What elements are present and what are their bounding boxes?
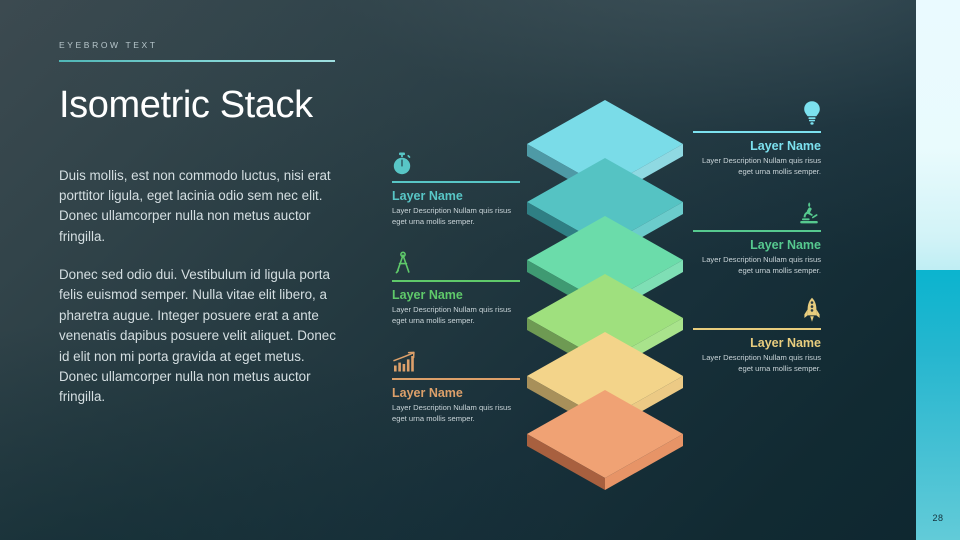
layer-name: Layer Name: [693, 139, 821, 153]
right-label-card-3[interactable]: Layer Name Layer Description Nullam quis…: [693, 297, 821, 374]
stopwatch-icon: [392, 150, 520, 176]
left-text-column: EYEBROW TEXT Isometric Stack Duis mollis…: [59, 40, 335, 408]
layer-description: Layer Description Nullam quis risus eget…: [693, 255, 821, 277]
layer-description: Layer Description Nullam quis risus eget…: [693, 156, 821, 178]
left-label-card-2[interactable]: Layer Name Layer Description Nullam quis…: [392, 249, 520, 326]
layer-name: Layer Name: [693, 238, 821, 252]
label-divider: [392, 280, 520, 282]
isometric-stack-graphic: [525, 98, 685, 443]
page-number: 28: [916, 513, 960, 523]
layer-name: Layer Name: [693, 336, 821, 350]
label-divider: [392, 181, 520, 183]
right-accent-strip: 28: [916, 0, 960, 540]
stack-layer-6[interactable]: [525, 388, 685, 492]
label-divider: [392, 378, 520, 380]
label-divider: [693, 328, 821, 330]
page-title: Isometric Stack: [59, 85, 335, 126]
accent-strip-top: [916, 0, 960, 270]
left-label-card-3[interactable]: Layer Name Layer Description Nullam quis…: [392, 347, 520, 424]
slide-canvas: EYEBROW TEXT Isometric Stack Duis mollis…: [0, 0, 960, 540]
layer-description: Layer Description Nullam quis risus eget…: [392, 206, 520, 228]
microscope-icon: [693, 199, 821, 225]
compass-divider-icon: [392, 249, 520, 275]
lightbulb-icon: [693, 100, 821, 126]
body-paragraph-2: Donec sed odio dui. Vestibulum id ligula…: [59, 265, 337, 408]
layer-name: Layer Name: [392, 386, 520, 400]
eyebrow-divider: [59, 60, 335, 62]
body-paragraph-1: Duis mollis, est non commodo luctus, nis…: [59, 166, 337, 248]
layer-name: Layer Name: [392, 288, 520, 302]
eyebrow-text: EYEBROW TEXT: [59, 40, 335, 60]
bar-chart-growth-icon: [392, 347, 520, 373]
right-label-card-2[interactable]: Layer Name Layer Description Nullam quis…: [693, 199, 821, 276]
body-copy: Duis mollis, est non commodo luctus, nis…: [59, 166, 337, 408]
left-label-card-1[interactable]: Layer Name Layer Description Nullam quis…: [392, 150, 520, 227]
rocket-icon: [693, 297, 821, 323]
layer-description: Layer Description Nullam quis risus eget…: [693, 353, 821, 375]
layer-name: Layer Name: [392, 189, 520, 203]
label-divider: [693, 131, 821, 133]
right-label-card-1[interactable]: Layer Name Layer Description Nullam quis…: [693, 100, 821, 177]
layer-description: Layer Description Nullam quis risus eget…: [392, 403, 520, 425]
layer-description: Layer Description Nullam quis risus eget…: [392, 305, 520, 327]
accent-strip-bottom: 28: [916, 270, 960, 540]
label-divider: [693, 230, 821, 232]
